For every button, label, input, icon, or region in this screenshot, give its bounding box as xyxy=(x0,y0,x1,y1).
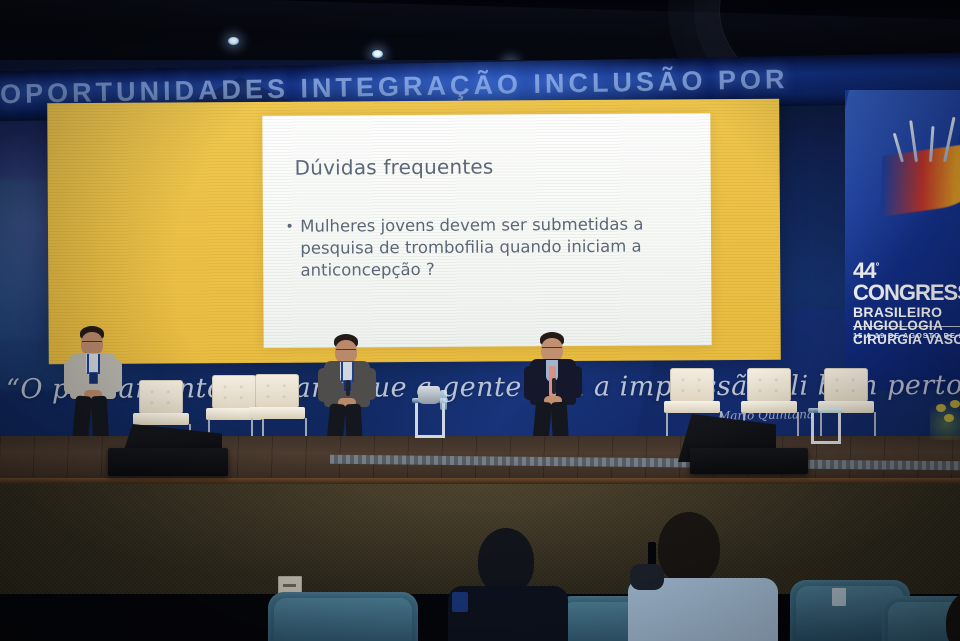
empty-chair-3 xyxy=(249,374,305,444)
name-badge xyxy=(89,372,98,384)
presentation-slide: Dúvidas frequentes • Mulheres jovens dev… xyxy=(262,113,711,348)
glasses-icon xyxy=(82,341,102,346)
banner-divider xyxy=(853,326,960,327)
ice-bucket xyxy=(418,386,440,404)
table-legs xyxy=(811,413,841,444)
lanyard-strap xyxy=(341,362,343,382)
floral-arrangement xyxy=(930,400,960,440)
banner-dates: 15 A 19 DE AGOSTO DE 20 xyxy=(853,331,960,340)
slide-title: Dúvidas frequentes xyxy=(295,155,494,180)
panelist-arm-left xyxy=(64,360,76,394)
stage-subwoofer-right xyxy=(690,448,808,474)
panelist-arm-left xyxy=(318,368,330,402)
spotlight-icon xyxy=(228,37,239,45)
banner-line2: BRASILEIRO xyxy=(853,305,960,319)
slide-bullet-item: • Mulheres jovens devem ser submetidas a… xyxy=(287,213,687,281)
led-video-wall: Dúvidas frequentes • Mulheres jovens dev… xyxy=(47,99,781,364)
panelist-arm-left xyxy=(524,366,536,400)
banner-edition-ordinal: ° xyxy=(875,262,878,273)
audience-lanyard xyxy=(452,592,468,612)
spotlight-icon xyxy=(372,50,383,58)
chair-backrest xyxy=(255,374,299,408)
stage-subwoofer-left xyxy=(108,448,228,476)
lanyard-strap xyxy=(87,354,89,374)
banner-edition-number: 44 xyxy=(853,258,875,283)
bullet-marker-icon: • xyxy=(287,216,293,282)
audience-hand xyxy=(630,564,664,590)
banner-lines-graphic xyxy=(897,112,957,162)
event-identity-banner: 44° CONGRESSO BRASILEIRO ANGIOLOGIA CIRU… xyxy=(845,90,960,390)
chair-backrest xyxy=(139,380,183,414)
slide-bullet-text: Mulheres jovens devem ser submetidas a p… xyxy=(300,213,687,281)
seat-number-tag xyxy=(832,588,846,606)
panelist-arm-right xyxy=(110,360,122,392)
glass-side-table-right xyxy=(808,408,844,444)
panelist-arm-right xyxy=(570,366,582,398)
audience-head xyxy=(478,528,534,594)
chair-backrest xyxy=(747,368,791,402)
handheld-microphone xyxy=(346,380,350,396)
audience-head xyxy=(658,512,720,584)
auditorium-seat-1 xyxy=(268,592,418,641)
audience-foreground xyxy=(0,494,960,641)
lanyard-strap-2 xyxy=(98,354,100,374)
banner-edition: 44° CONGRESSO xyxy=(853,260,960,305)
panelist-arm-right xyxy=(364,368,376,400)
handheld-microphone xyxy=(552,378,556,394)
conference-panel-photo: AO OPORTUNIDADES INTEGRAÇÃO INCLUSÃO POR… xyxy=(0,0,960,641)
glasses-icon xyxy=(336,349,356,354)
chair-backrest xyxy=(670,368,714,402)
lanyard-strap-2 xyxy=(352,362,354,382)
water-bottle xyxy=(440,390,447,410)
banner-line1: CONGRESSO xyxy=(853,280,960,305)
chair-backrest xyxy=(824,368,868,402)
glasses-icon xyxy=(542,347,562,352)
